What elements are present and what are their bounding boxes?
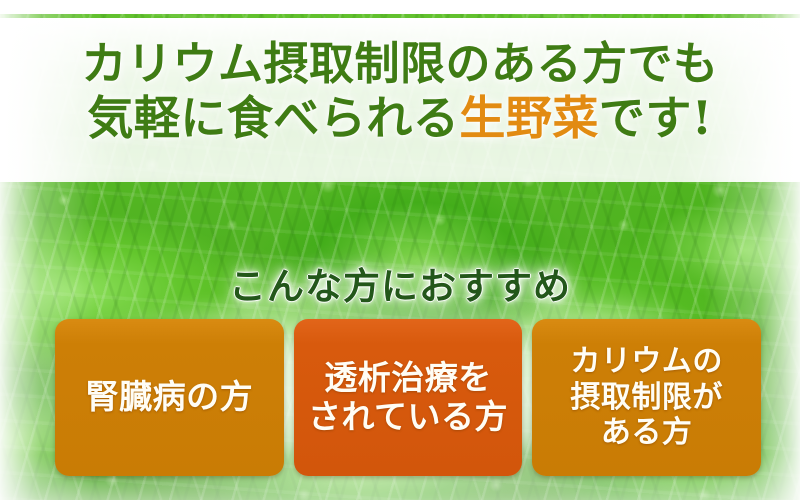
audience-card-kidney-disease[interactable]: 腎臓病の方 (55, 319, 284, 476)
headline-line-1: カリウム摂取制限のある方でも (0, 40, 800, 88)
audience-card-label: カリウムの 摂取制限が ある方 (570, 344, 723, 450)
audience-card-dialysis-treatment[interactable]: 透析治療を されている方 (294, 319, 523, 476)
audience-card-label: 腎臓病の方 (86, 378, 254, 417)
subheading: こんな方におすすめ (0, 256, 800, 310)
audience-card-potassium-restricted[interactable]: カリウムの 摂取制限が ある方 (532, 319, 761, 476)
headline-accent-term: 生野菜 (459, 91, 599, 145)
headline-line-2-suffix: です! (599, 91, 713, 145)
headline-line-2-prefix: 気軽に食べられる (87, 91, 459, 145)
headline: カリウム摂取制限のある方でも 気軽に食べられる生野菜です! (0, 40, 800, 142)
promo-banner: カリウム摂取制限のある方でも 気軽に食べられる生野菜です! こんな方におすすめ … (0, 0, 800, 500)
audience-card-label: 透析治療を されている方 (308, 359, 508, 437)
top-white-strip (0, 0, 800, 14)
headline-line-2: 気軽に食べられる生野菜です! (0, 94, 800, 143)
audience-card-row: 腎臓病の方 透析治療を されている方 カリウムの 摂取制限が ある方 (55, 319, 761, 476)
